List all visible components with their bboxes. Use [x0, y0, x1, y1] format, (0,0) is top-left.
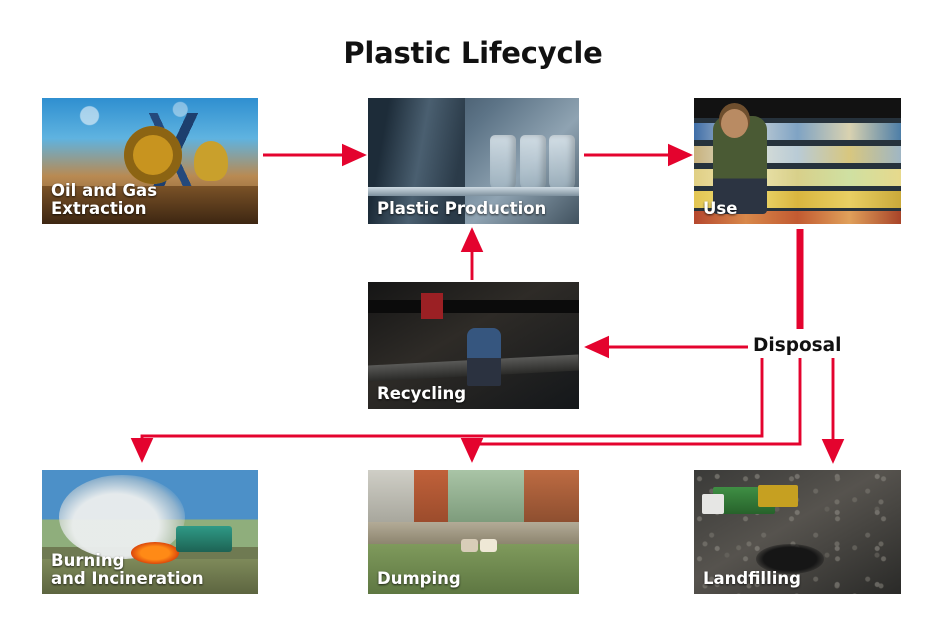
- edge-disposal-to-dumping: [472, 358, 800, 460]
- flow-connectors: [0, 0, 946, 631]
- edge-use-to-disposal-bar: [797, 229, 804, 329]
